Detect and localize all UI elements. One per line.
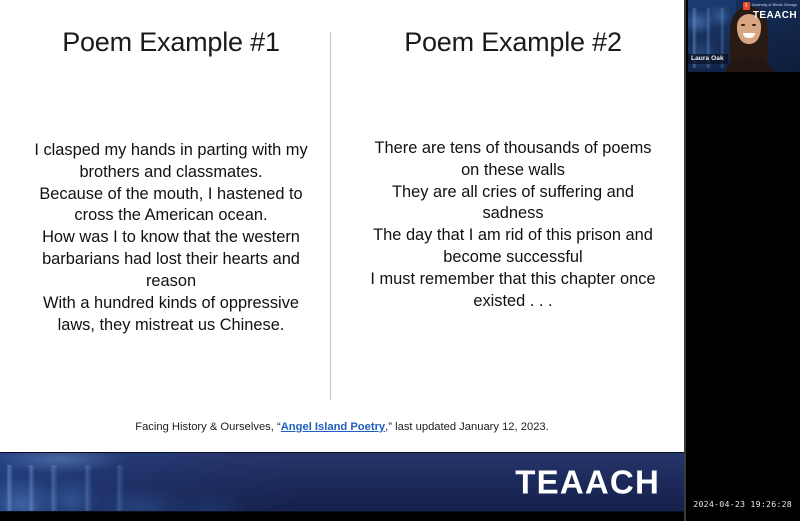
brand-logo-row: I University of Illinois Chicago xyxy=(743,2,797,10)
poem-1-title: Poem Example #1 xyxy=(12,28,330,58)
poem-columns: Poem Example #1 I clasped my hands in pa… xyxy=(0,0,684,410)
virtual-background-brand: I University of Illinois Chicago TEAACH xyxy=(743,2,797,21)
source-citation: Facing History & Ourselves, “Angel Islan… xyxy=(0,421,684,434)
recording-timestamp: 2024-04-23 19:26:28 xyxy=(693,499,792,509)
slide-right-edge xyxy=(684,0,686,521)
poem-2-title: Poem Example #2 xyxy=(354,28,672,58)
column-divider-line xyxy=(330,32,331,400)
slide-content-area: Poem Example #1 I clasped my hands in pa… xyxy=(0,0,684,452)
banner-campus-photo xyxy=(0,453,300,511)
participant-name-label: Laura Oak xyxy=(688,54,728,64)
poem-column-1: Poem Example #1 I clasped my hands in pa… xyxy=(0,0,342,410)
poem-1-text: I clasped my hands in parting with my br… xyxy=(8,140,334,336)
poem-column-2: Poem Example #2 There are tens of thousa… xyxy=(342,0,684,410)
participant-video-tile[interactable]: I University of Illinois Chicago TEAACH … xyxy=(688,0,800,72)
avatar-eye-left xyxy=(741,24,745,26)
university-block-i-icon: I xyxy=(743,2,750,10)
slide-footer-banner: TEAACH xyxy=(0,452,684,512)
avatar-eye-right xyxy=(752,24,756,26)
angel-island-poetry-link[interactable]: Angel Island Poetry xyxy=(281,421,385,433)
university-wordmark: University of Illinois Chicago xyxy=(752,4,797,8)
poem-2-text: There are tens of thousands of poems on … xyxy=(350,138,676,313)
teaach-virtual-background-title: TEAACH xyxy=(743,11,797,21)
screen-root: Poem Example #1 I clasped my hands in pa… xyxy=(0,0,800,521)
meeting-background-gutter xyxy=(684,0,800,521)
slide-bottom-letterbox xyxy=(0,512,684,521)
citation-suffix: ,” last updated January 12, 2023. xyxy=(385,421,549,433)
citation-prefix: Facing History & Ourselves, “ xyxy=(135,421,280,433)
presentation-slide: Poem Example #1 I clasped my hands in pa… xyxy=(0,0,684,521)
teaach-banner-title: TEAACH xyxy=(515,466,660,499)
